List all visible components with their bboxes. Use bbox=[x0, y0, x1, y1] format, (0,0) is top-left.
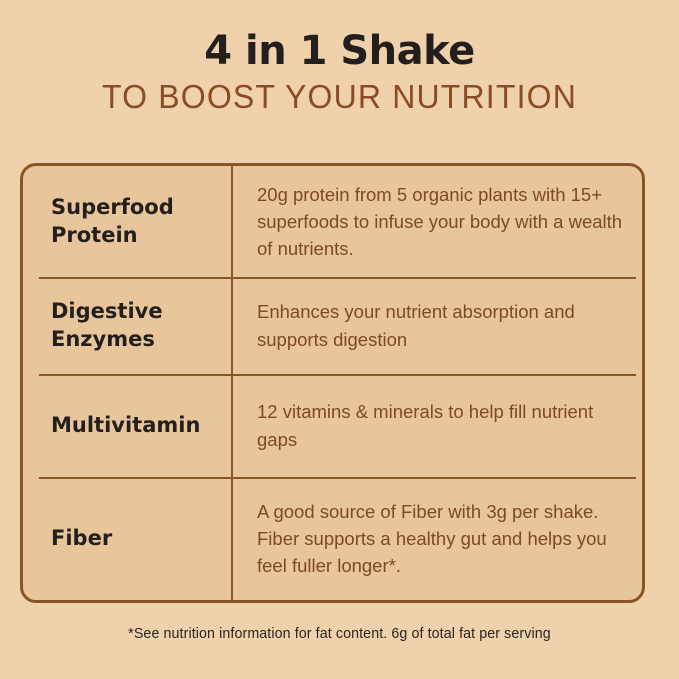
table-row: Superfood Protein 20g protein from 5 org… bbox=[23, 166, 642, 277]
row-divider bbox=[39, 277, 636, 279]
row-divider bbox=[39, 374, 636, 376]
table-row-label-line2: Enzymes bbox=[51, 326, 221, 353]
table-row-description: A good source of Fiber with 3g per shake… bbox=[231, 498, 642, 580]
table-row-description: 12 vitamins & minerals to help fill nutr… bbox=[231, 398, 642, 452]
column-divider bbox=[231, 166, 233, 600]
page-title: 4 in 1 Shake bbox=[0, 30, 679, 72]
table-row-label: Fiber bbox=[23, 525, 231, 552]
table-row-label-line1: Digestive bbox=[51, 298, 221, 325]
header: 4 in 1 Shake TO BOOST YOUR NUTRITION bbox=[0, 30, 679, 116]
table-row: Fiber A good source of Fiber with 3g per… bbox=[23, 477, 642, 600]
table-row-label: Superfood Protein bbox=[23, 194, 231, 249]
row-divider bbox=[39, 477, 636, 479]
benefits-table: Superfood Protein 20g protein from 5 org… bbox=[20, 163, 645, 603]
table-row: Digestive Enzymes Enhances your nutrient… bbox=[23, 277, 642, 374]
table-row-description: Enhances your nutrient absorption and su… bbox=[231, 298, 642, 352]
table-row-label: Multivitamin bbox=[23, 412, 231, 439]
table-row-description: 20g protein from 5 organic plants with 1… bbox=[231, 181, 642, 263]
page-subtitle: TO BOOST YOUR NUTRITION bbox=[10, 78, 669, 116]
infographic-page: 4 in 1 Shake TO BOOST YOUR NUTRITION Sup… bbox=[0, 0, 679, 679]
table-row-label-line1: Multivitamin bbox=[51, 412, 221, 439]
table-row-label-line1: Superfood bbox=[51, 194, 221, 221]
table-row-label: Digestive Enzymes bbox=[23, 298, 231, 353]
table-row-label-line1: Fiber bbox=[51, 525, 221, 552]
table-row: Multivitamin 12 vitamins & minerals to h… bbox=[23, 374, 642, 477]
footnote: *See nutrition information for fat conte… bbox=[17, 625, 662, 642]
table-row-label-line2: Protein bbox=[51, 222, 221, 249]
